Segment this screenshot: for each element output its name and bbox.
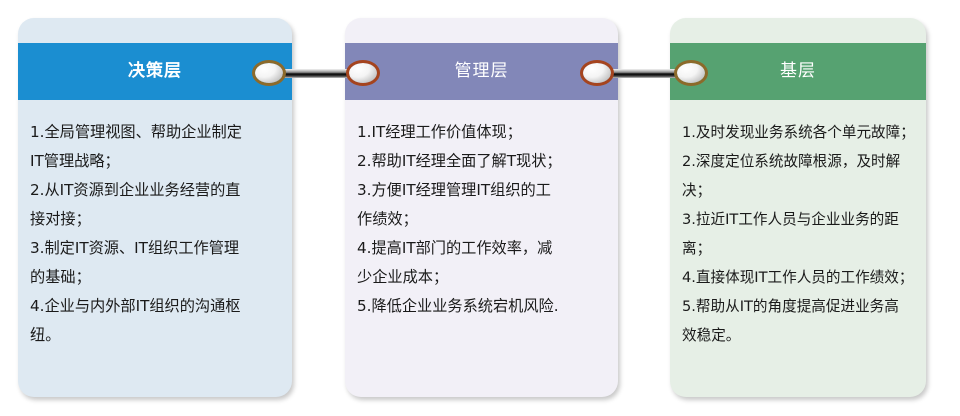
- panel-management-body: 1.IT经理工作价值体现； 2.帮助IT经理全面了解T现状； 3.方便IT经理管…: [345, 104, 618, 397]
- body-line: 3.拉近IT工作人员与企业业务的距: [682, 205, 916, 234]
- panel-decision-header: 决策层: [18, 43, 292, 100]
- connector-management-to-foundation: [580, 60, 708, 86]
- panel-management[interactable]: 管理层 1.IT经理工作价值体现； 2.帮助IT经理全面了解T现状； 3.方便I…: [345, 18, 618, 397]
- body-line: 纽。: [30, 321, 282, 350]
- body-line: 3.方便IT经理管理IT组织的工: [357, 176, 608, 205]
- body-line: 5.帮助从IT的角度提高促进业务高: [682, 292, 916, 321]
- body-line: 作绩效；: [357, 205, 608, 234]
- three-tier-diagram: 决策层 1.全局管理视图、帮助企业制定 IT管理战略； 2.从IT资源到企业业务…: [0, 0, 960, 416]
- body-line: IT管理战略；: [30, 147, 282, 176]
- knob-ring: [580, 60, 614, 86]
- body-line: 2.帮助IT经理全面了解T现状；: [357, 147, 608, 176]
- panel-foundation-header: 基层: [670, 43, 926, 100]
- body-line: 离；: [682, 234, 916, 263]
- body-line: 4.直接体现IT工作人员的工作绩效；: [682, 263, 916, 292]
- body-line: 1.IT经理工作价值体现；: [357, 118, 608, 147]
- connector-knob-left-icon: [252, 60, 286, 86]
- body-line: 1.及时发现业务系统各个单元故障；: [682, 118, 916, 147]
- panel-decision[interactable]: 决策层 1.全局管理视图、帮助企业制定 IT管理战略； 2.从IT资源到企业业务…: [18, 18, 292, 397]
- connector-knob-left-icon: [580, 60, 614, 86]
- connector-knob-right-icon: [346, 60, 380, 86]
- body-line: 接对接；: [30, 205, 282, 234]
- body-line: 2.从IT资源到企业业务经营的直: [30, 176, 282, 205]
- panel-decision-title: 决策层: [128, 63, 182, 80]
- body-line: 4.提高IT部门的工作效率，减: [357, 234, 608, 263]
- panel-foundation[interactable]: 基层 1.及时发现业务系统各个单元故障； 2.深度定位系统故障根源，及时解 决；…: [670, 18, 926, 397]
- knob-ring: [252, 60, 286, 86]
- body-line: 4.企业与内外部IT组织的沟通枢: [30, 292, 282, 321]
- body-line: 2.深度定位系统故障根源，及时解: [682, 147, 916, 176]
- panel-management-title: 管理层: [455, 63, 509, 80]
- panel-management-header: 管理层: [345, 43, 618, 100]
- body-line: 5.降低企业业务系统宕机风险.: [357, 292, 608, 321]
- body-line: 1.全局管理视图、帮助企业制定: [30, 118, 282, 147]
- knob-ring: [346, 60, 380, 86]
- panel-decision-body: 1.全局管理视图、帮助企业制定 IT管理战略； 2.从IT资源到企业业务经营的直…: [18, 104, 292, 397]
- body-line: 3.制定IT资源、IT组织工作管理: [30, 234, 282, 263]
- connector-knob-right-icon: [674, 60, 708, 86]
- body-line: 少企业成本；: [357, 263, 608, 292]
- body-line: 效稳定。: [682, 321, 916, 350]
- body-line: 决；: [682, 176, 916, 205]
- connector-decision-to-management: [252, 60, 380, 86]
- body-line: 的基础；: [30, 263, 282, 292]
- panel-foundation-title: 基层: [780, 63, 816, 80]
- panel-foundation-body: 1.及时发现业务系统各个单元故障； 2.深度定位系统故障根源，及时解 决； 3.…: [670, 104, 926, 397]
- knob-ring: [674, 60, 708, 86]
